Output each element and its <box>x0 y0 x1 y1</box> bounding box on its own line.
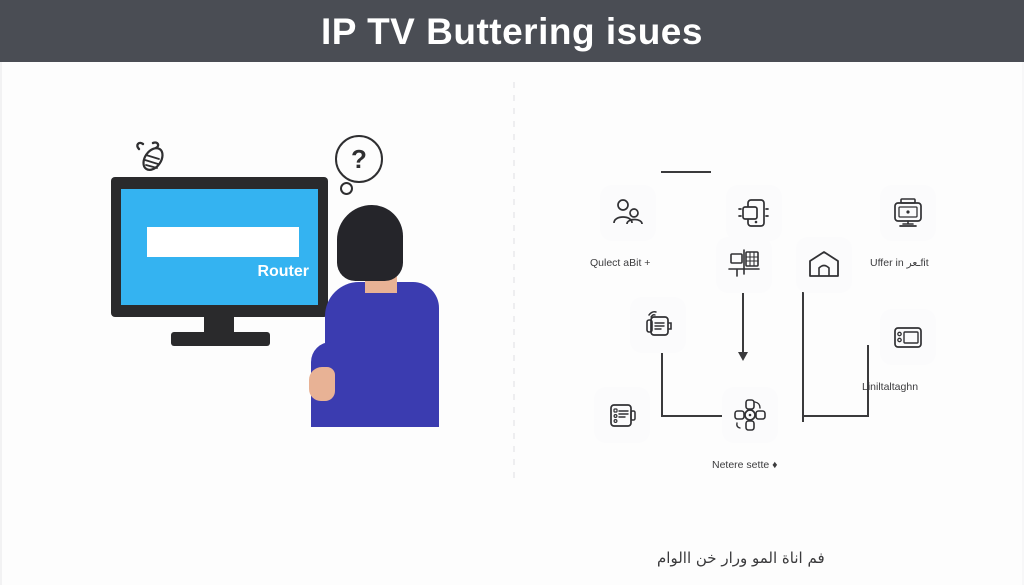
arrow-head-down <box>738 352 748 361</box>
node-monitor[interactable] <box>880 185 936 241</box>
person-hand <box>309 367 335 401</box>
tv-frame: Router <box>111 177 328 317</box>
network-diagram: Qulect aBit + <box>562 107 982 507</box>
set-top-box-icon <box>891 320 925 354</box>
tv-buffering-illustration: ? Router <box>97 127 457 427</box>
thought-bubble: ? <box>335 135 383 183</box>
node-satellite[interactable] <box>722 387 778 443</box>
node-label-satellite: Netere sette ♦ <box>712 459 777 471</box>
house-icon <box>806 248 842 282</box>
node-modem[interactable] <box>594 387 650 443</box>
tv-stand-base <box>171 332 270 346</box>
mobile-device-icon <box>737 196 771 230</box>
person-hair <box>337 205 403 281</box>
node-users[interactable] <box>600 185 656 241</box>
grid-panel-icon <box>727 248 761 282</box>
node-label-monitor: Uffer in ـعرfit <box>870 257 929 269</box>
buffering-bar <box>147 227 299 257</box>
page-header: IP TV Buttering isues <box>0 0 1024 62</box>
connector-users-device <box>661 171 711 173</box>
slide-page: IP TV Buttering isues ? Router <box>0 0 1024 585</box>
node-label-set-top-box: Liniltaltaghn <box>862 381 918 393</box>
users-icon <box>611 196 645 230</box>
node-house[interactable] <box>796 237 852 293</box>
satellite-dish-icon <box>732 397 768 433</box>
connector-house-vertical <box>802 292 804 422</box>
node-set-top-box[interactable] <box>880 309 936 365</box>
connector-stb-horizontal <box>804 415 869 417</box>
page-title: IP TV Buttering isues <box>321 13 703 50</box>
content-canvas: ? Router <box>0 62 1024 585</box>
node-device[interactable] <box>726 185 782 241</box>
node-wifi-router[interactable] <box>630 297 686 353</box>
monitor-icon <box>891 196 925 230</box>
node-label-users: Qulect aBit + <box>590 257 650 269</box>
connector-modem-elbow-vertical <box>661 345 663 417</box>
spiral-doodle-icon <box>133 139 175 175</box>
router-label: Router <box>257 263 309 281</box>
question-mark: ? <box>351 146 367 172</box>
wifi-router-icon <box>641 308 675 342</box>
arabic-caption: فم اناة المو ورار خن االوام <box>657 549 825 567</box>
modem-icon <box>605 398 639 432</box>
thought-bubble-dot <box>340 182 353 195</box>
tv-screen: Router <box>121 189 318 305</box>
connector-grid-down <box>742 292 744 354</box>
node-grid[interactable] <box>716 237 772 293</box>
connector-modem-elbow-horizontal <box>661 415 723 417</box>
vertical-divider <box>513 82 515 482</box>
